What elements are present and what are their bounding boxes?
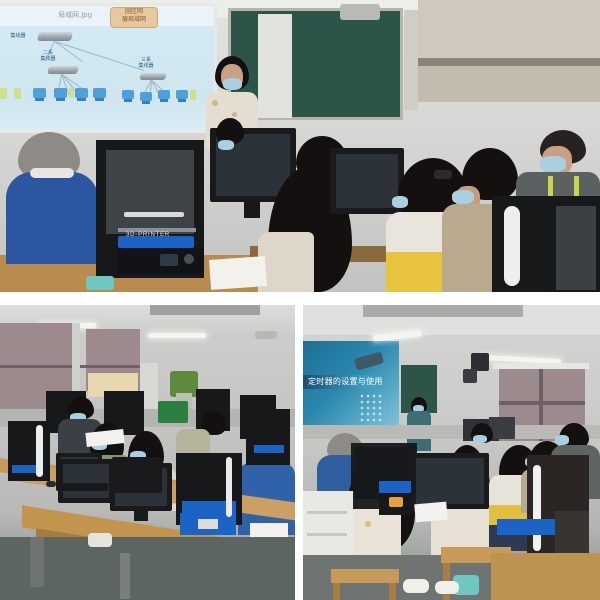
stool-seat bbox=[331, 569, 399, 583]
eyeglasses bbox=[434, 170, 452, 179]
diagram-node bbox=[69, 88, 74, 98]
diagram-pc bbox=[158, 90, 170, 99]
lab-floor bbox=[0, 537, 295, 600]
hub-branch-right-label: 三系集线器 bbox=[132, 57, 160, 69]
wall-speaker bbox=[463, 369, 477, 383]
diagram-pc-base bbox=[56, 98, 65, 101]
diagram-node bbox=[14, 88, 21, 99]
slide-tag-label: 园区网展局域网 bbox=[122, 8, 146, 23]
back-window-blinds-lower bbox=[418, 66, 600, 102]
ceiling-vent bbox=[340, 4, 380, 20]
hub-branch-left-icon bbox=[47, 66, 79, 74]
monitor-stand bbox=[244, 202, 260, 218]
diagram-pc-base bbox=[35, 98, 44, 101]
attendee-mask bbox=[555, 435, 569, 445]
blind-rail bbox=[418, 58, 600, 66]
monitor-stand bbox=[134, 511, 148, 521]
diagram-node bbox=[0, 88, 7, 99]
top-wide-photo: 局域网.jpg 园区网展局域网 集线器 二系集线器 三系集线器 bbox=[0, 0, 600, 292]
diagram-pc-base bbox=[124, 99, 132, 102]
printer-rail bbox=[504, 206, 520, 286]
printer-interior bbox=[556, 206, 596, 290]
sneaker bbox=[435, 581, 459, 594]
printer-bed bbox=[254, 445, 284, 453]
back-window-blinds bbox=[418, 0, 600, 60]
attendee-mask bbox=[452, 190, 474, 204]
slide-dot-pattern bbox=[359, 393, 385, 423]
blouse-pattern bbox=[212, 100, 218, 106]
projection-screen-header bbox=[0, 6, 214, 26]
green-equipment bbox=[158, 401, 188, 423]
stool-leg bbox=[333, 583, 340, 600]
diagram-pc-base bbox=[142, 101, 150, 104]
photo-collage: 局域网.jpg 园区网展局域网 集线器 二系集线器 三系集线器 bbox=[0, 0, 600, 600]
monitor-bezel bbox=[112, 457, 162, 493]
mouse[interactable] bbox=[46, 481, 56, 487]
slide-tag-box: 园区网展局域网 bbox=[110, 7, 158, 28]
desk-leg bbox=[30, 537, 44, 587]
attendee-mask bbox=[540, 156, 566, 172]
ceiling-speaker bbox=[255, 331, 277, 339]
printer-cable bbox=[124, 212, 184, 217]
ceiling-beam bbox=[363, 305, 523, 317]
desk-leg bbox=[120, 553, 130, 599]
wall-edge bbox=[404, 10, 418, 110]
slide-title-bar: 定时器的设置与使用 bbox=[303, 375, 385, 389]
diagram-pc bbox=[75, 88, 88, 98]
attendee-mask bbox=[473, 435, 487, 443]
paper-handout bbox=[414, 502, 447, 523]
attendee-mask bbox=[218, 140, 234, 150]
diagram-pc bbox=[122, 90, 134, 99]
printer-brand-label: 3D-PRINTER bbox=[126, 232, 170, 238]
printer-rail bbox=[36, 425, 43, 477]
monitor-screen bbox=[63, 464, 109, 498]
attendee-mask bbox=[392, 196, 408, 208]
diagram-pc bbox=[54, 88, 67, 98]
slide-header-text: 局域网.jpg bbox=[58, 10, 92, 20]
printer-frame bbox=[246, 409, 290, 465]
diagram-pc-base bbox=[160, 99, 168, 102]
printer-display bbox=[389, 497, 403, 507]
diagram-pc-base bbox=[77, 98, 86, 101]
side-cabinet bbox=[303, 491, 353, 555]
monitor-screen bbox=[336, 154, 398, 208]
ceiling-light bbox=[148, 333, 206, 338]
paper-handout bbox=[209, 256, 267, 290]
desk-sticker bbox=[86, 276, 114, 290]
window-frame-top bbox=[493, 363, 589, 369]
diagram-pc-base bbox=[95, 98, 104, 101]
diagram-pc bbox=[176, 90, 188, 99]
printer-knob[interactable] bbox=[184, 254, 194, 264]
hub-branch-left-label: 二系集线器 bbox=[34, 50, 62, 62]
bottom-left-photo bbox=[0, 305, 295, 600]
diagram-pc bbox=[140, 92, 152, 101]
printer-display bbox=[160, 254, 178, 266]
sneaker bbox=[88, 533, 112, 547]
ceiling-beam bbox=[150, 305, 260, 315]
diagram-pc bbox=[93, 88, 106, 98]
hub-branch-right-icon bbox=[139, 73, 166, 80]
diagram-pc bbox=[33, 88, 46, 98]
sneaker bbox=[403, 579, 429, 593]
shirt-collar bbox=[30, 168, 74, 178]
presenter-mask bbox=[223, 78, 242, 90]
bottom-right-photo: 定时器的设置与使用 bbox=[303, 305, 600, 600]
printer-interior bbox=[106, 150, 194, 234]
keyboard[interactable] bbox=[62, 483, 108, 491]
monitor-screen bbox=[416, 458, 484, 504]
diagram-pc-base bbox=[178, 99, 186, 102]
printer-label-plate bbox=[198, 519, 218, 529]
cabinet-seam bbox=[307, 511, 347, 514]
slide-title-text: 定时器的设置与使用 bbox=[303, 375, 385, 389]
printer-rail bbox=[226, 457, 232, 517]
cabinet-seam bbox=[307, 533, 347, 536]
projection-screen-slide bbox=[0, 26, 214, 130]
printer-interior bbox=[555, 511, 589, 559]
hub-root-icon bbox=[37, 32, 73, 41]
jacket-pattern bbox=[365, 521, 371, 527]
diagram-node bbox=[190, 90, 196, 100]
hub-root-label: 集线器 bbox=[4, 33, 32, 39]
blind-rail bbox=[0, 365, 140, 368]
front-desk bbox=[491, 553, 600, 600]
printer-rail bbox=[533, 465, 541, 551]
wall-panel bbox=[258, 14, 292, 118]
blouse-pattern bbox=[232, 112, 237, 117]
printer-bed bbox=[379, 481, 415, 493]
stool-leg bbox=[389, 583, 396, 600]
attendee-blue-shirt bbox=[6, 172, 98, 264]
